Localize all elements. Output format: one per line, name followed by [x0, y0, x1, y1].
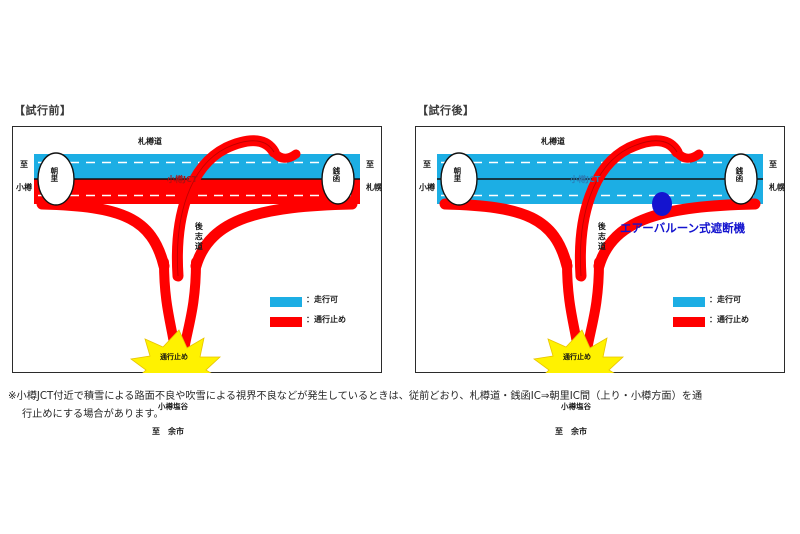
legend-swatch-open: [270, 297, 302, 307]
label-to-sapporo-l2-before: 札幌: [366, 184, 382, 192]
label-top-road-before: 札樽道: [138, 138, 162, 146]
legend-swatch-closed: [270, 317, 302, 327]
label-air-balloon-barrier: エアーバルーン式遮断機: [620, 222, 745, 234]
label-to-yoichi-after: 至 余市: [555, 428, 587, 436]
diagram-page: 【試行前】: [0, 0, 800, 534]
legend-label-closed-after: ：通行止め: [709, 316, 749, 324]
label-ramp-road-after: 後志道: [597, 222, 605, 252]
footnote-caption: ※小樽JCT付近で積雪による路面不良や吹雪による視界不良などが発生しているときは…: [8, 388, 792, 424]
legend-label-open-before: ：走行可: [306, 296, 338, 304]
panel-title-after: 【試行後】: [417, 102, 475, 118]
label-to-sapporo-l2-after: 札幌: [769, 184, 785, 192]
label-to-otaru-l2-before: 小樽: [16, 184, 32, 192]
label-burst-after: 通行止め: [563, 354, 591, 361]
label-burst-before: 通行止め: [160, 354, 188, 361]
air-balloon-barrier-marker: [652, 192, 672, 216]
label-top-road-after: 札樽道: [541, 138, 565, 146]
label-node-zenibako-after: 銭函: [735, 167, 743, 182]
label-ramp-road-before: 後志道: [194, 222, 202, 252]
panel-title-before: 【試行前】: [14, 102, 72, 118]
label-to-otaru-l2-after: 小樽: [419, 184, 435, 192]
legend-label-open-after: ：走行可: [709, 296, 741, 304]
closure-burst: [131, 330, 222, 373]
label-to-sapporo-l1-before: 至: [366, 161, 374, 169]
legend-label-closed-before: ：通行止め: [306, 316, 346, 324]
panel-before: 【試行前】: [12, 126, 382, 373]
legend-swatch-open-after: [673, 297, 705, 307]
label-node-zenibako-before: 銭函: [332, 167, 340, 182]
label-to-sapporo-l1-after: 至: [769, 161, 777, 169]
label-node-asari-before: 朝里: [50, 167, 58, 182]
label-to-otaru-l1-before: 至: [20, 161, 28, 169]
label-node-asari-after: 朝里: [453, 167, 461, 182]
footnote-line-1: ※小樽JCT付近で積雪による路面不良や吹雪による視界不良などが発生しているときは…: [8, 391, 702, 402]
legend-swatch-closed-after: [673, 317, 705, 327]
footnote-line-2: 行止めにする場合があります。: [8, 406, 792, 424]
panel-after: 【試行後】: [415, 126, 785, 373]
label-jct-after: 小樽JCT: [570, 176, 600, 184]
closure-burst-after: [534, 330, 625, 373]
label-to-otaru-l1-after: 至: [423, 161, 431, 169]
label-to-yoichi-before: 至 余市: [152, 428, 184, 436]
label-jct-before: 小樽JCT: [167, 176, 197, 184]
